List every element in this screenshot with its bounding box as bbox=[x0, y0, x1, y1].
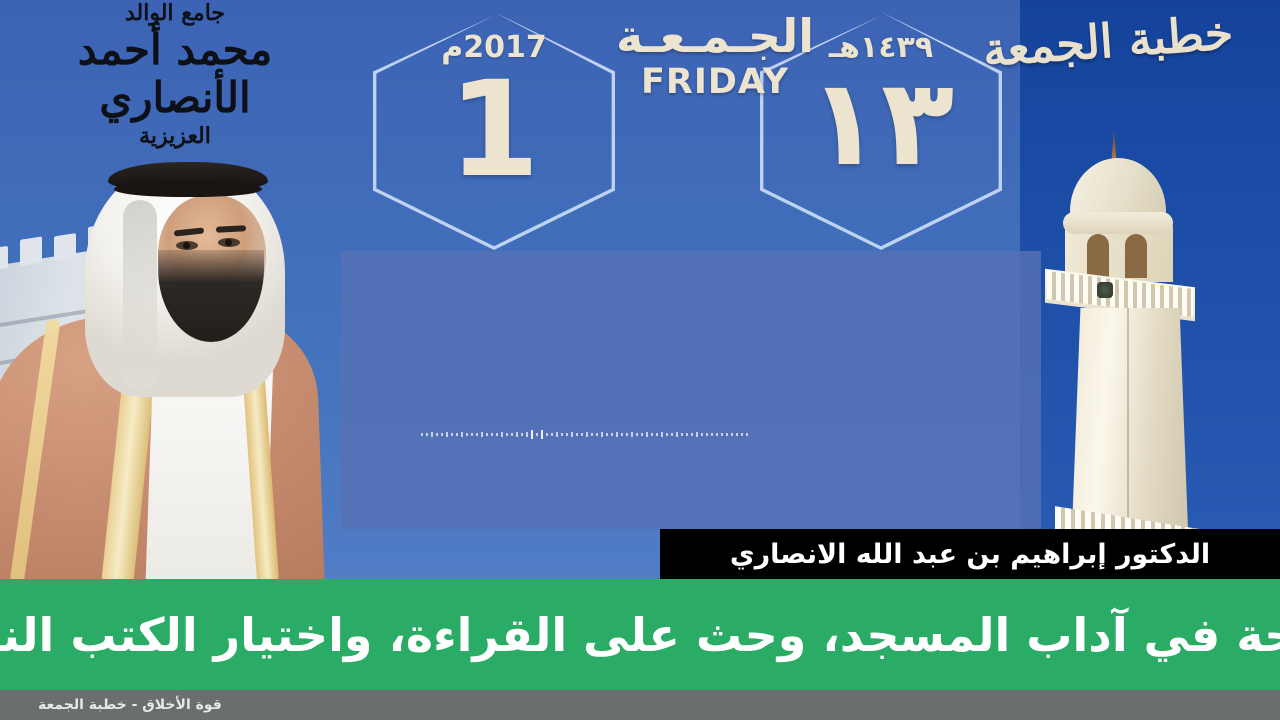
ghutra-fold bbox=[123, 200, 157, 390]
mosque-name-line-main: محمد أحمد الأنصاري bbox=[10, 26, 340, 123]
minaret-dome-ring bbox=[1063, 212, 1173, 234]
player-bar[interactable]: قوة الأخلاق - خطبة الجمعة bbox=[0, 690, 1280, 720]
igal-cord-lower bbox=[114, 180, 262, 197]
mosque-name-line-top: جامع الوالد bbox=[10, 2, 340, 24]
headline-banner: نصيحة في آداب المسجد، وحث على القراءة، و… bbox=[0, 579, 1280, 690]
mosque-name-line-bottom: العزيزية bbox=[10, 125, 340, 147]
minaret-loudspeaker-icon bbox=[1097, 282, 1113, 298]
headline-text: نصيحة في آداب المسجد، وحث على القراءة، و… bbox=[0, 608, 1280, 662]
speaker-photo bbox=[0, 140, 320, 585]
faded-text-line bbox=[421, 429, 966, 439]
day-name-english: FRIDAY bbox=[595, 62, 835, 102]
video-frame: جامع الوالد محمد أحمد الأنصاري العزيزية … bbox=[0, 0, 1280, 720]
day-name-block: الجـمـعـة FRIDAY bbox=[595, 12, 835, 102]
day-name-arabic: الجـمـعـة bbox=[595, 12, 835, 60]
speaker-name-bar: الدكتور إبراهيم بن عبد الله الانصاري bbox=[660, 529, 1280, 579]
minaret bbox=[1035, 130, 1265, 550]
mosque-name-calligraphy: جامع الوالد محمد أحمد الأنصاري العزيزية bbox=[10, 2, 340, 147]
content-panel bbox=[341, 251, 1041, 529]
player-video-title: قوة الأخلاق - خطبة الجمعة bbox=[38, 697, 222, 713]
gregorian-date-group: 2017م 1 bbox=[373, 12, 615, 250]
gregorian-day-number: 1 bbox=[373, 64, 615, 196]
speaker-name-text: الدكتور إبراهيم بن عبد الله الانصاري bbox=[730, 539, 1210, 570]
